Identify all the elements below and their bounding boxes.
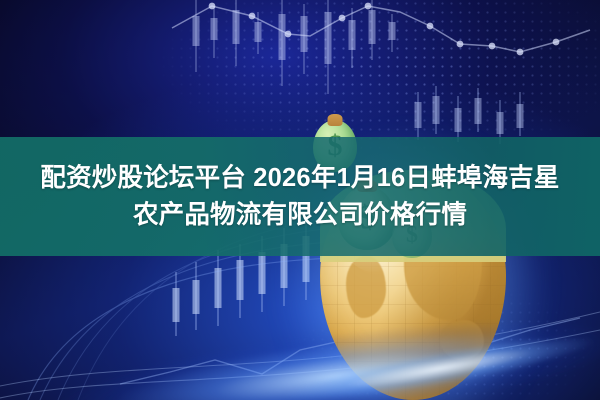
- title-line-2: 农产品物流有限公司价格行情: [133, 199, 467, 231]
- title-text-block: 配资炒股论坛平台 2026年1月16日蚌埠海吉星 农产品物流有限公司价格行情: [0, 137, 600, 256]
- money-bag-tie: [328, 114, 343, 126]
- banner-root: $ $ $ 配资炒股论坛平台 2026年1月16日蚌埠海吉星 农产品物流有限公司…: [0, 0, 600, 400]
- title-line-1: 配资炒股论坛平台 2026年1月16日蚌埠海吉星: [40, 162, 559, 194]
- dot-grid-pattern-top: [150, 0, 600, 150]
